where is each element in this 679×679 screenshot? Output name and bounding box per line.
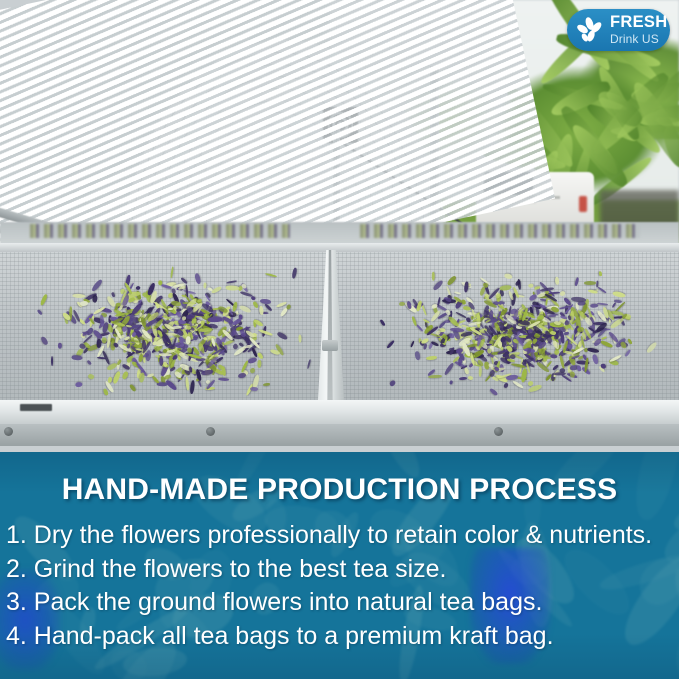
tray-front-edge-lower bbox=[0, 424, 679, 446]
tray-bolt-mid bbox=[206, 427, 215, 436]
dried-flower-petal bbox=[601, 363, 606, 368]
dried-flower-petal bbox=[189, 380, 196, 395]
dried-flower-petal bbox=[597, 286, 607, 294]
dried-flower-petal bbox=[432, 280, 444, 292]
dried-flower-petal bbox=[463, 281, 469, 292]
dried-flower-petal bbox=[145, 350, 152, 362]
dried-flower-petal bbox=[624, 350, 631, 358]
dried-flower-petal bbox=[613, 290, 626, 298]
dried-flower-petal bbox=[165, 379, 177, 391]
dried-flower-petal bbox=[425, 356, 437, 361]
dried-flower-petal bbox=[87, 373, 95, 381]
process-step: 3. Pack the ground flowers into natural … bbox=[6, 586, 673, 620]
dried-flower-petal bbox=[411, 316, 417, 326]
dried-flower-petal bbox=[455, 311, 467, 319]
dried-flower-petal bbox=[226, 280, 237, 284]
dried-flower-petal bbox=[446, 274, 457, 285]
dried-flower-petal bbox=[573, 277, 579, 287]
dried-flower-petal bbox=[458, 377, 466, 381]
dried-flower-petal bbox=[111, 292, 116, 298]
dried-flower-petal bbox=[239, 304, 252, 314]
logo-wordmark: FRESH Drink US bbox=[610, 14, 667, 46]
dried-flower-petal bbox=[51, 356, 53, 366]
dried-flower-petal bbox=[57, 343, 62, 349]
dried-flower-petal bbox=[75, 382, 83, 388]
dried-flower-petal bbox=[265, 273, 277, 278]
dried-flower-petal bbox=[87, 360, 92, 365]
dried-flower-petal bbox=[105, 295, 116, 308]
dried-flower-petal bbox=[189, 366, 192, 372]
dried-flower-petal bbox=[121, 370, 129, 379]
dried-flower-petal bbox=[138, 372, 145, 383]
dried-flower-petal bbox=[91, 278, 104, 292]
dried-flower-petal bbox=[592, 354, 599, 365]
dried-flower-petal bbox=[251, 295, 256, 301]
dried-flower-petal bbox=[221, 366, 227, 376]
dried-flower-petal bbox=[256, 359, 261, 368]
dried-flower-petal bbox=[142, 339, 146, 349]
greenhouse-photo: FRESH Drink US bbox=[0, 0, 679, 454]
dried-flower-petal bbox=[258, 329, 273, 337]
logo-tagline: Drink US bbox=[610, 33, 667, 45]
product-infographic: FRESH Drink US HAND-MADE PRODUCTION PROC… bbox=[0, 0, 679, 679]
dried-flower-petal bbox=[286, 304, 292, 310]
dried-flower-petal bbox=[298, 335, 301, 343]
dried-flower-petal bbox=[111, 370, 121, 384]
dried-flower-petal bbox=[249, 367, 256, 374]
dried-flower-petal bbox=[646, 341, 659, 354]
center-rail-nub bbox=[322, 340, 338, 351]
tray-bolt-right bbox=[494, 427, 503, 436]
dried-flower-petal bbox=[200, 369, 212, 375]
dried-flower-petal bbox=[500, 285, 512, 291]
dried-flower-petal bbox=[194, 272, 201, 284]
dried-flower-petal bbox=[608, 330, 619, 343]
dried-flower-petal bbox=[554, 372, 566, 376]
dried-flower-petal bbox=[40, 336, 48, 346]
far-flowers-right bbox=[360, 224, 640, 238]
dried-flower-petal bbox=[587, 346, 600, 353]
logo-brand-name: FRESH bbox=[610, 14, 667, 31]
dried-flower-petal bbox=[265, 303, 273, 312]
dried-flower-petal bbox=[208, 317, 223, 323]
dried-flower-petal bbox=[416, 324, 424, 333]
dried-flower-petal bbox=[590, 304, 598, 308]
dried-flower-petal bbox=[185, 325, 191, 330]
flower-pile-right bbox=[368, 262, 668, 402]
dried-flower-petal bbox=[97, 356, 106, 359]
dried-flower-petal bbox=[211, 286, 222, 294]
dried-flower-petal bbox=[389, 380, 396, 387]
dried-flower-petal bbox=[454, 291, 461, 295]
dried-flower-petal bbox=[92, 294, 98, 303]
dried-flower-petal bbox=[464, 367, 470, 375]
dried-flower-petal bbox=[259, 305, 264, 314]
dried-flower-petal bbox=[277, 332, 288, 342]
dried-flower-petal bbox=[218, 377, 229, 381]
dried-flower-petal bbox=[555, 277, 559, 285]
dried-flower-petal bbox=[238, 373, 247, 379]
dried-flower-petal bbox=[423, 343, 428, 350]
dried-flower-petal bbox=[489, 387, 499, 397]
process-step: 1. Dry the flowers professionally to ret… bbox=[6, 519, 673, 553]
dried-flower-petal bbox=[307, 359, 312, 369]
dried-flower-petal bbox=[467, 375, 473, 381]
dried-flower-petal bbox=[263, 383, 270, 386]
tray-bolt-left bbox=[4, 427, 13, 436]
dried-flower-petal bbox=[39, 294, 48, 306]
dried-flower-petal bbox=[72, 354, 83, 361]
dried-flower-petal bbox=[584, 280, 596, 284]
page-title: HAND-MADE PRODUCTION PROCESS bbox=[0, 473, 679, 507]
flower-pile-left bbox=[14, 262, 314, 402]
process-step: 4. Hand-pack all tea bags to a premium k… bbox=[6, 620, 673, 654]
dried-flower-petal bbox=[253, 301, 259, 309]
dried-flower-petal bbox=[432, 272, 435, 281]
process-panel: HAND-MADE PRODUCTION PROCESS 1. Dry the … bbox=[0, 452, 679, 679]
dried-flower-petal bbox=[170, 266, 174, 279]
dried-flower-petal bbox=[597, 302, 608, 306]
dried-flower-petal bbox=[199, 327, 212, 331]
dried-flower-petal bbox=[379, 319, 385, 327]
dried-flower-petal bbox=[185, 376, 190, 391]
dried-flower-petal bbox=[226, 285, 240, 291]
dried-flower-petal bbox=[386, 340, 395, 349]
dried-flower-petal bbox=[449, 380, 453, 385]
dried-flower-petal bbox=[518, 279, 522, 290]
tray-edge-slot bbox=[20, 404, 52, 411]
dried-flower-petal bbox=[478, 366, 482, 377]
dried-flower-petal bbox=[410, 340, 415, 347]
dried-flower-petal bbox=[102, 388, 108, 396]
process-step: 2. Grind the flowers to the best tea siz… bbox=[6, 553, 673, 587]
dried-flower-petal bbox=[37, 310, 43, 316]
dried-flower-petal bbox=[203, 283, 207, 289]
dried-flower-petal bbox=[443, 363, 455, 377]
process-steps-list: 1. Dry the flowers professionally to ret… bbox=[6, 519, 673, 653]
dried-flower-petal bbox=[291, 267, 298, 279]
dried-flower-petal bbox=[129, 384, 137, 393]
dried-flower-petal bbox=[428, 374, 442, 378]
flower-leaves-icon bbox=[574, 15, 605, 46]
dried-flower-petal bbox=[176, 308, 181, 311]
pickup-truck-taillight bbox=[579, 196, 587, 212]
far-flowers-left bbox=[30, 224, 290, 238]
dried-flower-petal bbox=[414, 351, 420, 361]
dried-flower-petal bbox=[504, 273, 513, 280]
dried-flower-petal bbox=[598, 271, 602, 276]
dried-flower-petal bbox=[600, 340, 613, 349]
brand-logo[interactable]: FRESH Drink US bbox=[567, 9, 670, 51]
dried-flower-petal bbox=[80, 301, 88, 306]
dried-flower-petal bbox=[528, 283, 534, 289]
dried-flower-petal bbox=[250, 386, 259, 391]
dried-flower-petal bbox=[503, 382, 508, 388]
dried-flower-petal bbox=[135, 285, 141, 291]
